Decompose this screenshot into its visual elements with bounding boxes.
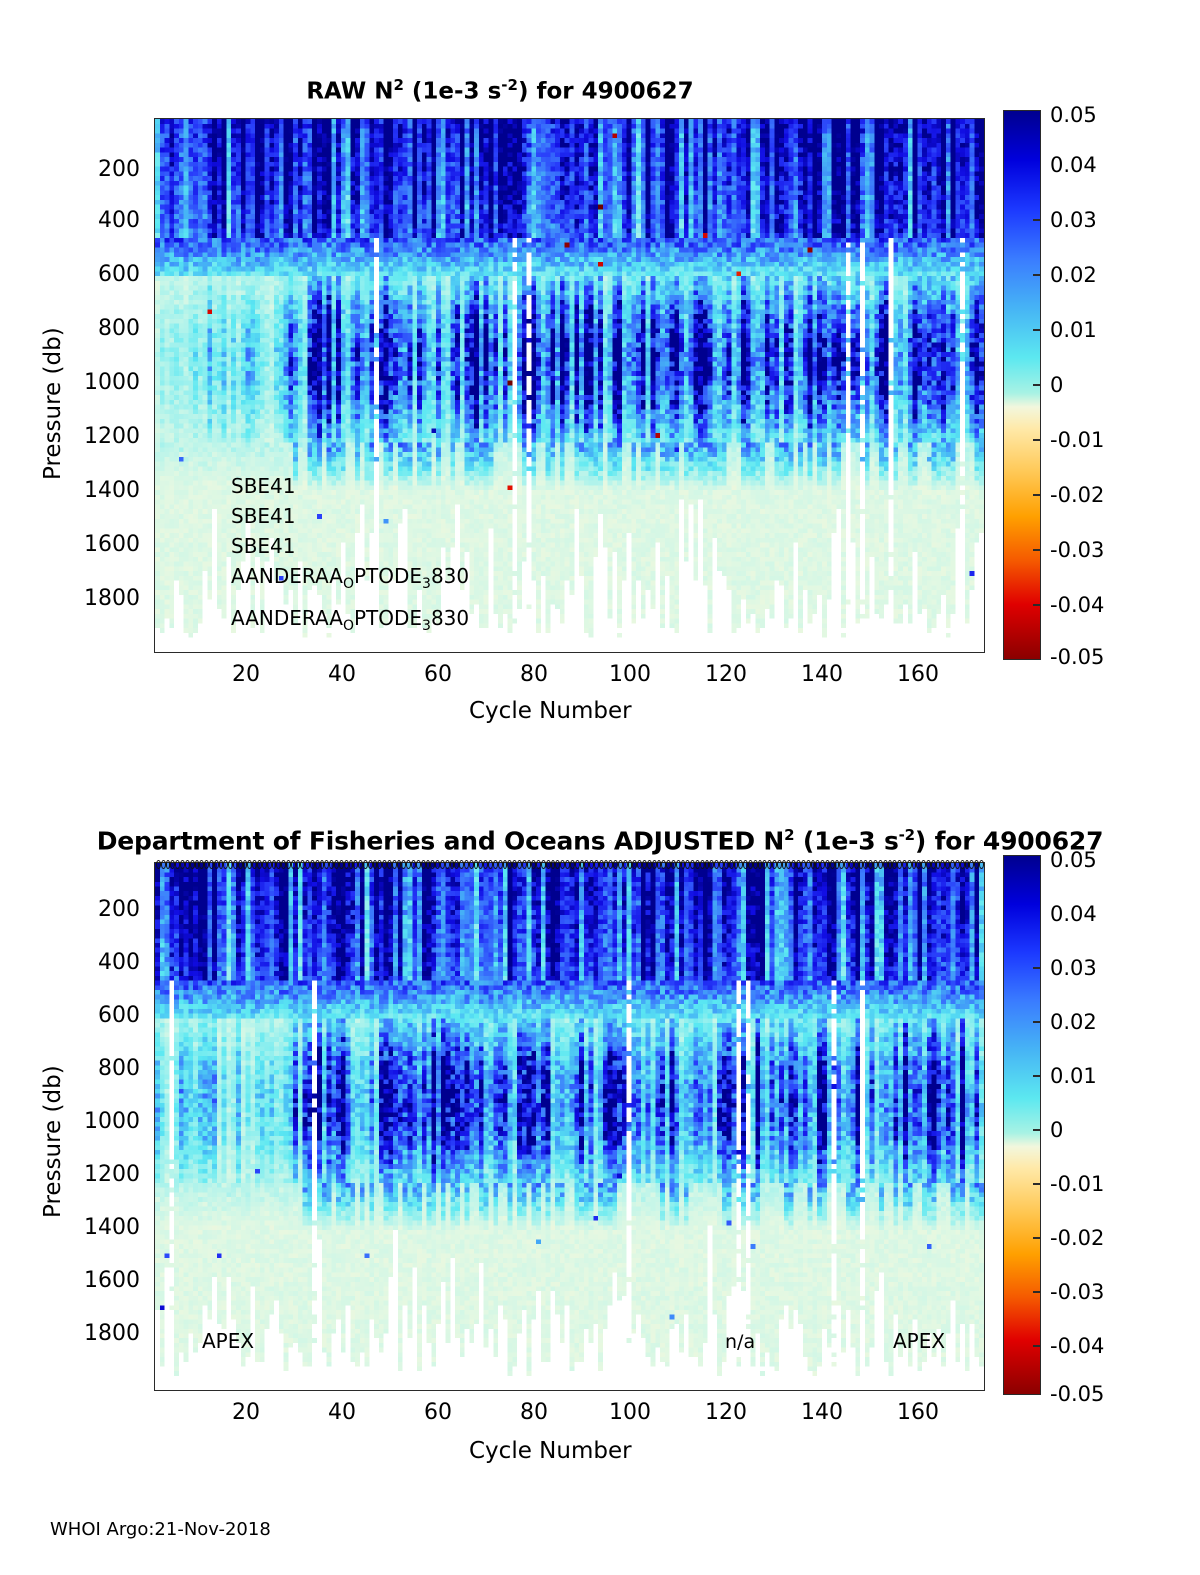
adj-xtick-160: 160 bbox=[888, 1400, 948, 1425]
raw-ytick-1800: 1800 bbox=[30, 586, 140, 611]
raw-cbmark-0.01 bbox=[1033, 329, 1041, 331]
adjusted-panel-title: Department of Fisheries and Oceans ADJUS… bbox=[0, 826, 1200, 855]
adj-ytick-400: 400 bbox=[50, 950, 140, 975]
adj-cbtick-0.02: 0.02 bbox=[1050, 1010, 1097, 1034]
adj-cbmark--0.01 bbox=[1033, 1183, 1041, 1185]
raw-title-main: RAW N bbox=[306, 79, 393, 105]
aanderaa-1-sub-3: 3 bbox=[422, 576, 431, 592]
adj-cbtick--0.03: -0.03 bbox=[1050, 1280, 1104, 1304]
raw-xtick-160: 160 bbox=[888, 662, 948, 687]
raw-annotation-aanderaa-1: AANDERAAOPTODE3830 bbox=[231, 564, 469, 592]
raw-cbmark--0.04 bbox=[1033, 604, 1041, 606]
raw-cbtick--0.03: -0.03 bbox=[1050, 538, 1104, 562]
aanderaa-2-part2: PTODE bbox=[354, 606, 422, 630]
raw-cbtick-0.05: 0.05 bbox=[1050, 103, 1097, 127]
adj-cbtick--0.01: -0.01 bbox=[1050, 1172, 1104, 1196]
aanderaa-1-sub-o: O bbox=[343, 576, 354, 592]
adj-cbtick-0.05: 0.05 bbox=[1050, 848, 1097, 872]
raw-cbmark--0.03 bbox=[1033, 549, 1041, 551]
adj-xtick-100: 100 bbox=[600, 1400, 660, 1425]
raw-cbtick-0: 0 bbox=[1050, 373, 1063, 397]
adj-title-superscript-2: 2 bbox=[784, 826, 794, 844]
raw-cbtick-0.04: 0.04 bbox=[1050, 153, 1097, 177]
raw-ytick-1400: 1400 bbox=[30, 478, 140, 503]
adjusted-annotation-apex-right: APEX bbox=[893, 1329, 945, 1353]
raw-annotation-sbe41-2: SBE41 bbox=[231, 504, 296, 528]
raw-cbmark-0.03 bbox=[1033, 219, 1041, 221]
aanderaa-1-part2: PTODE bbox=[354, 564, 422, 588]
adj-cbtick-0: 0 bbox=[1050, 1118, 1063, 1142]
raw-xtick-40: 40 bbox=[312, 662, 372, 687]
adjusted-colorbar[interactable] bbox=[1003, 855, 1041, 1395]
adj-ytick-1800: 1800 bbox=[30, 1321, 140, 1346]
raw-x-axis-label: Cycle Number bbox=[469, 698, 632, 724]
adj-ytick-800: 800 bbox=[50, 1056, 140, 1081]
adj-cbmark-0.03 bbox=[1033, 967, 1041, 969]
aanderaa-2-sub-o: O bbox=[343, 618, 354, 634]
raw-xtick-20: 20 bbox=[216, 662, 276, 687]
raw-title-end: ) for 4900627 bbox=[518, 79, 694, 105]
adj-xtick-80: 80 bbox=[504, 1400, 564, 1425]
raw-xtick-60: 60 bbox=[408, 662, 468, 687]
adj-cbmark-0 bbox=[1033, 1129, 1041, 1131]
raw-annotation-aanderaa-2: AANDERAAOPTODE3830 bbox=[231, 606, 469, 634]
raw-ytick-400: 400 bbox=[50, 208, 140, 233]
raw-xtick-140: 140 bbox=[792, 662, 852, 687]
raw-cbtick-0.02: 0.02 bbox=[1050, 263, 1097, 287]
raw-xtick-100: 100 bbox=[600, 662, 660, 687]
adj-cbtick--0.05: -0.05 bbox=[1050, 1382, 1104, 1406]
adj-cbmark--0.03 bbox=[1033, 1291, 1041, 1293]
raw-ytick-600: 600 bbox=[50, 262, 140, 287]
aanderaa-1-part3: 830 bbox=[431, 564, 469, 588]
adj-cbmark--0.02 bbox=[1033, 1237, 1041, 1239]
figure-footer: WHOI Argo:21-Nov-2018 bbox=[50, 1519, 271, 1540]
raw-title-superscript-2: 2 bbox=[393, 76, 403, 94]
aanderaa-2-sub-3: 3 bbox=[422, 618, 431, 634]
adjusted-heatmap-plot[interactable] bbox=[154, 862, 985, 1391]
adjusted-annotation-na: n/a bbox=[725, 1331, 755, 1353]
adj-ytick-1000: 1000 bbox=[30, 1109, 140, 1134]
adj-title-main: Department of Fisheries and Oceans ADJUS… bbox=[97, 826, 784, 855]
adj-cbmark-0.01 bbox=[1033, 1075, 1041, 1077]
adj-cbmark--0.04 bbox=[1033, 1345, 1041, 1347]
raw-ytick-800: 800 bbox=[50, 316, 140, 341]
adj-xtick-60: 60 bbox=[408, 1400, 468, 1425]
raw-panel-title: RAW N2 (1e-3 s-2) for 4900627 bbox=[0, 76, 1000, 105]
adj-xtick-20: 20 bbox=[216, 1400, 276, 1425]
adjusted-x-axis-label: Cycle Number bbox=[469, 1438, 632, 1464]
raw-cbmark--0.02 bbox=[1033, 494, 1041, 496]
adj-title-mid: (1e-3 s bbox=[794, 826, 898, 855]
raw-cbtick--0.02: -0.02 bbox=[1050, 483, 1104, 507]
adj-cbtick-0.01: 0.01 bbox=[1050, 1064, 1097, 1088]
adj-ytick-1200: 1200 bbox=[30, 1162, 140, 1187]
raw-cbmark-0 bbox=[1033, 384, 1041, 386]
raw-y-axis-label: Pressure (db) bbox=[40, 327, 66, 480]
adj-cbtick-0.04: 0.04 bbox=[1050, 902, 1097, 926]
adj-ytick-1600: 1600 bbox=[30, 1268, 140, 1293]
raw-cbtick--0.04: -0.04 bbox=[1050, 593, 1104, 617]
adj-cbmark-0.02 bbox=[1033, 1021, 1041, 1023]
adj-xtick-140: 140 bbox=[792, 1400, 852, 1425]
raw-annotation-sbe41-1: SBE41 bbox=[231, 474, 296, 498]
raw-cbtick-0.03: 0.03 bbox=[1050, 208, 1097, 232]
adj-cbtick-0.03: 0.03 bbox=[1050, 956, 1097, 980]
raw-xtick-120: 120 bbox=[696, 662, 756, 687]
adjusted-heatmap-image bbox=[155, 863, 984, 1390]
aanderaa-2-part3: 830 bbox=[431, 606, 469, 630]
raw-cbmark--0.01 bbox=[1033, 439, 1041, 441]
raw-ytick-1000: 1000 bbox=[30, 370, 140, 395]
raw-ytick-1600: 1600 bbox=[30, 532, 140, 557]
raw-title-mid: (1e-3 s bbox=[404, 79, 501, 105]
adjusted-annotation-apex-left: APEX bbox=[202, 1329, 254, 1353]
raw-title-superscript-minus2: -2 bbox=[501, 76, 518, 94]
raw-cbtick--0.01: -0.01 bbox=[1050, 428, 1104, 452]
raw-cbtick--0.05: -0.05 bbox=[1050, 645, 1104, 669]
raw-cbtick-0.01: 0.01 bbox=[1050, 318, 1097, 342]
adj-ytick-600: 600 bbox=[50, 1003, 140, 1028]
raw-xtick-80: 80 bbox=[504, 662, 564, 687]
aanderaa-2-part1: AANDERAA bbox=[231, 606, 343, 630]
adj-ytick-200: 200 bbox=[50, 897, 140, 922]
adj-xtick-40: 40 bbox=[312, 1400, 372, 1425]
adjusted-y-axis-label: Pressure (db) bbox=[40, 1065, 66, 1218]
raw-ytick-200: 200 bbox=[50, 157, 140, 182]
adj-cbtick--0.02: -0.02 bbox=[1050, 1226, 1104, 1250]
adj-title-superscript-minus2: -2 bbox=[899, 826, 915, 844]
aanderaa-1-part1: AANDERAA bbox=[231, 564, 343, 588]
adj-xtick-120: 120 bbox=[696, 1400, 756, 1425]
adj-cbtick--0.04: -0.04 bbox=[1050, 1334, 1104, 1358]
raw-annotation-sbe41-3: SBE41 bbox=[231, 534, 296, 558]
raw-ytick-1200: 1200 bbox=[30, 424, 140, 449]
adj-ytick-1400: 1400 bbox=[30, 1215, 140, 1240]
raw-cbmark-0.02 bbox=[1033, 274, 1041, 276]
